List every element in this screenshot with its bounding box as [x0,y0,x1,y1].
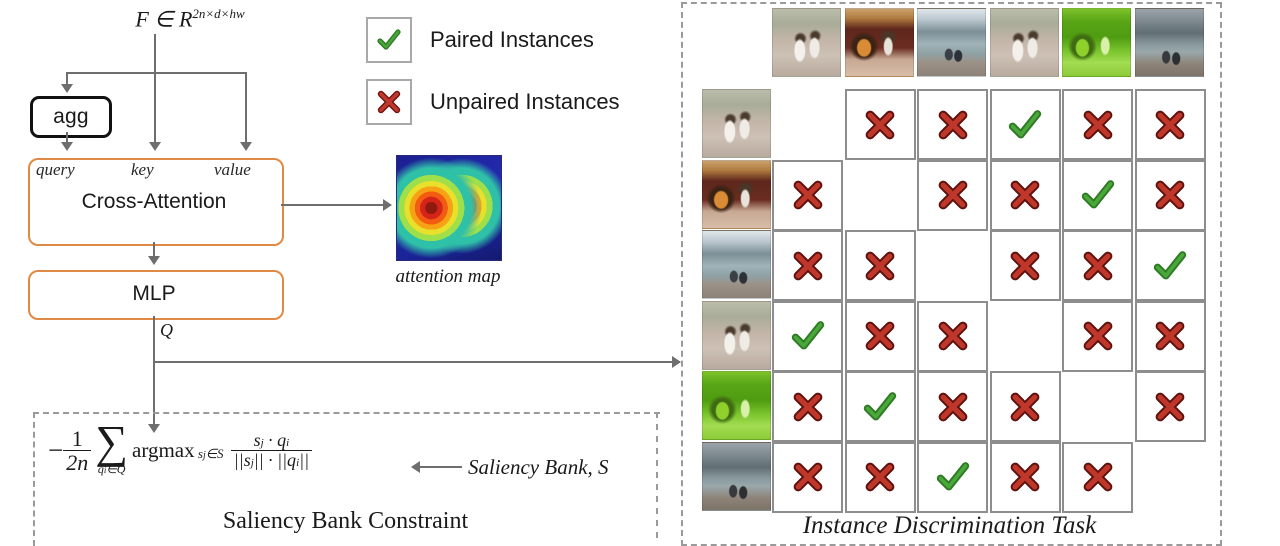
cross-icon [1008,249,1042,283]
agg-block[interactable]: agg [30,96,112,138]
matrix-cell-diagonal [1135,442,1202,509]
matrix-cell-diagonal [1062,371,1129,438]
formula-frac-den-mid: || · ||q [254,450,296,470]
formula-frac-den-end: || [299,450,309,470]
cross-icon [791,460,825,494]
arrowhead-to-mlp [148,256,160,265]
arrowhead-q-to-matrix [672,356,681,368]
matrix-cell-diagonal [845,160,912,227]
matrix-cell-unpaired[interactable] [917,160,988,231]
input-feature-formula: F ∈ R2n×d×hw [60,6,320,32]
cross-icon [791,249,825,283]
formula-sign: − [48,435,63,465]
matrix-cell-paired[interactable] [917,442,988,513]
check-icon [1152,248,1188,284]
matrix-column-header-thumbnail [772,8,841,77]
matrix-row-header-thumbnail [702,442,771,511]
cross-icon [1153,178,1187,212]
connector-q-down [153,316,155,426]
matrix-column-header-thumbnail [917,8,986,77]
arrowhead-to-agg [61,84,73,93]
cross-attention-input-query: query [36,160,75,180]
matrix-cell-unpaired[interactable] [772,442,843,513]
cross-icon [1008,460,1042,494]
check-icon [935,459,971,495]
arrowhead-to-key [149,142,161,151]
matrix-cell-paired[interactable] [845,371,916,442]
matrix-column-header-thumbnail [1135,8,1204,77]
formula-coefficient-num: 1 [63,427,91,451]
matrix-row-header-thumbnail [702,301,771,370]
matrix-cell-unpaired[interactable] [845,301,916,372]
cross-icon [791,178,825,212]
matrix-cell-paired[interactable] [1062,160,1133,231]
matrix-cell-diagonal [990,301,1057,368]
cross-icon [936,319,970,353]
matrix-cell-diagonal [772,89,839,156]
legend-item-unpaired: Unpaired Instances [366,79,620,125]
matrix-cell-diagonal [917,230,984,297]
matrix-column-header-thumbnail [1062,8,1131,77]
cross-icon [863,319,897,353]
agg-label: agg [53,105,89,129]
matrix-cell-paired[interactable] [990,89,1061,160]
formula-sum-symbol: ∑ [95,424,128,461]
formula-coefficient-den: 2n [63,451,91,474]
matrix-cell-unpaired[interactable] [1062,301,1133,372]
legend-label-paired: Paired Instances [430,27,594,53]
cross-icon [936,390,970,424]
matrix-cell-unpaired[interactable] [990,442,1061,513]
matrix-cell-unpaired[interactable] [917,371,988,442]
matrix-cell-unpaired[interactable] [990,160,1061,231]
formula-base: F ∈ R [135,6,192,31]
cross-icon [1008,178,1042,212]
cross-icon [1081,460,1115,494]
matrix-cell-unpaired[interactable] [1135,371,1206,442]
connector-leg-key [154,72,156,144]
check-icon [790,318,826,354]
matrix-cell-unpaired[interactable] [845,442,916,513]
legend-label-unpaired: Unpaired Instances [430,89,620,115]
formula-sum-sub-rest: ∈Q [106,462,125,476]
connector-split-bar [66,72,246,74]
cross-icon [1153,390,1187,424]
formula-frac-num-s: s [254,430,261,450]
matrix-cell-unpaired[interactable] [917,89,988,160]
matrix-cell-unpaired[interactable] [772,371,843,442]
cross-icon [1081,249,1115,283]
formula-argmax: argmax [132,438,195,462]
matrix-row-header-thumbnail [702,371,771,440]
matrix-column-header-thumbnail [990,8,1059,77]
matrix-cell-unpaired[interactable] [990,371,1061,442]
formula-argmax-sub-rest: ∈S [206,446,224,461]
matrix-cell-paired[interactable] [772,301,843,372]
cross-icon [863,460,897,494]
matrix-row-header-thumbnail [702,160,771,229]
matrix-cell-unpaired[interactable] [845,230,916,301]
matrix-row-header-thumbnail [702,230,771,299]
cross-attention-input-key: key [131,160,154,180]
connector-saliency-annotation [420,466,462,468]
formula-frac-num-i: i [286,437,289,449]
mlp-label: MLP [28,282,280,306]
saliency-bank-annotation: Saliency Bank, S [468,455,609,480]
cross-icon [366,79,412,125]
cross-icon [1081,319,1115,353]
cross-icon [791,390,825,424]
matrix-cell-unpaired[interactable] [1062,442,1133,513]
attention-map-image [396,155,502,261]
instance-discrimination-caption: Instance Discrimination Task [681,512,1218,540]
cross-attention-title: Cross-Attention [28,190,280,214]
connector-formula-down [154,34,156,72]
matrix-cell-unpaired[interactable] [917,301,988,372]
cross-icon [863,249,897,283]
check-icon [366,17,412,63]
connector-q-to-matrix [153,361,680,363]
legend-item-paired: Paired Instances [366,17,594,63]
arrowhead-to-value [240,142,252,151]
matrix-cell-unpaired[interactable] [1062,230,1133,301]
check-icon [1007,107,1043,143]
matrix-cell-unpaired[interactable] [1135,301,1206,372]
connector-to-attention-map [281,204,385,206]
check-icon [862,389,898,425]
formula-frac-num-dot: · q [264,430,287,450]
cross-icon [1008,390,1042,424]
matrix-cell-unpaired[interactable] [772,230,843,301]
cross-icon [1153,319,1187,353]
arrowhead-to-query [61,142,73,151]
q-label: Q [160,320,173,341]
connector-leg-value [245,72,247,144]
matrix-cell-unpaired[interactable] [990,230,1061,301]
cross-icon [936,108,970,142]
matrix-row-header-thumbnail [702,89,771,158]
matrix-cell-unpaired[interactable] [1062,89,1133,160]
attention-map-caption: attention map [360,266,536,288]
cross-icon [1153,108,1187,142]
cross-attention-input-value: value [214,160,251,180]
check-icon [1080,177,1116,213]
matrix-cell-unpaired[interactable] [1135,89,1206,160]
matrix-column-header-thumbnail [845,8,914,77]
cross-icon [936,178,970,212]
arrowhead-saliency-annotation [411,461,420,473]
formula-superscript: 2n×d×hw [192,6,244,21]
matrix-cell-paired[interactable] [1135,230,1206,301]
matrix-cell-unpaired[interactable] [772,160,843,231]
cross-icon [863,108,897,142]
matrix-cell-unpaired[interactable] [1135,160,1206,231]
formula-frac-den-s: ||s [234,450,251,470]
matrix-cell-unpaired[interactable] [845,89,916,160]
arrowhead-to-attention-map [383,199,392,211]
cross-icon [1081,108,1115,142]
saliency-bank-caption: Saliency Bank Constraint [33,508,658,535]
